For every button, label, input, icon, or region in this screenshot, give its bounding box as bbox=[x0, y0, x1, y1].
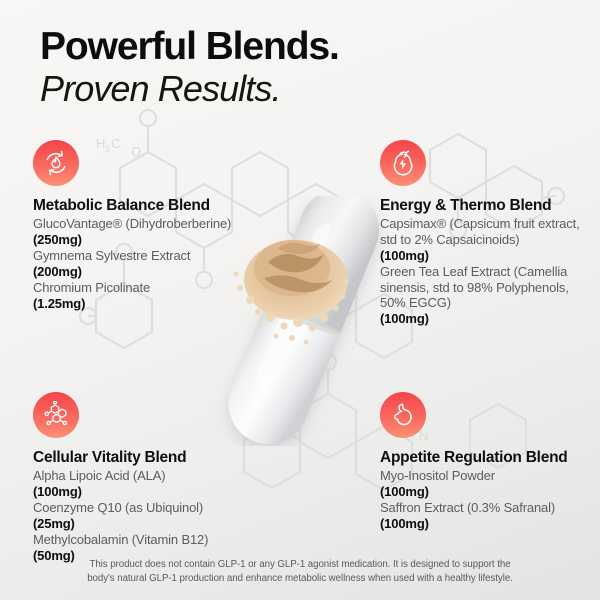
ingredient-dose: (100mg) bbox=[380, 516, 585, 532]
disclaimer-line-2: body's natural GLP-1 production and enha… bbox=[36, 572, 564, 586]
blend-card-cellular: Cellular Vitality Blend Alpha Lipoic Aci… bbox=[33, 392, 248, 564]
ingredient-name: Coenzyme Q10 (as Ubiquinol) bbox=[33, 500, 248, 516]
blend-title: Appetite Regulation Blend bbox=[380, 449, 585, 467]
ingredient-name: Methylcobalamin (Vitamin B12) bbox=[33, 532, 248, 548]
blend-title: Metabolic Balance Blend bbox=[33, 197, 233, 215]
ingredient-name: Capsimax® (Capsicum fruit extract, std t… bbox=[380, 216, 580, 247]
flame-recycle-icon bbox=[33, 140, 79, 186]
blend-title: Energy & Thermo Blend bbox=[380, 197, 580, 215]
page-title: Powerful Blends. Proven Results. bbox=[40, 26, 339, 111]
ingredient-name: GlucoVantage® (Dihydroberberine) bbox=[33, 216, 233, 232]
ingredient-name: Alpha Lipoic Acid (ALA) bbox=[33, 468, 248, 484]
ingredient-dose: (25mg) bbox=[33, 516, 248, 532]
infographic-poster: H 3 C O N O bbox=[0, 0, 600, 600]
ingredient-name: Gymnema Sylvestre Extract bbox=[33, 248, 233, 264]
ingredient-name: Chromium Picolinate bbox=[33, 280, 233, 296]
title-line-secondary: Proven Results. bbox=[40, 68, 339, 110]
ingredient-dose: (200mg) bbox=[33, 264, 233, 280]
title-line-primary: Powerful Blends. bbox=[40, 26, 339, 68]
blend-card-appetite: Appetite Regulation Blend Myo-Inositol P… bbox=[380, 392, 585, 532]
disclaimer: This product does not contain GLP-1 or a… bbox=[0, 558, 600, 586]
ingredient-name: Saffron Extract (0.3% Safranal) bbox=[380, 500, 585, 516]
ingredient-dose: (100mg) bbox=[33, 484, 248, 500]
ingredient-dose: (100mg) bbox=[380, 484, 585, 500]
ingredient-dose: (250mg) bbox=[33, 232, 233, 248]
blend-title: Cellular Vitality Blend bbox=[33, 449, 248, 467]
ingredient-dose: (100mg) bbox=[380, 311, 580, 327]
ingredient-dose: (100mg) bbox=[380, 248, 580, 264]
blend-card-metabolic: Metabolic Balance Blend GlucoVantage® (D… bbox=[33, 140, 233, 312]
ingredient-name: Green Tea Leaf Extract (Camellia sinensi… bbox=[380, 264, 580, 311]
molecule-icon bbox=[33, 392, 79, 438]
ingredient-name: Myo-Inositol Powder bbox=[380, 468, 585, 484]
disclaimer-line-1: This product does not contain GLP-1 or a… bbox=[36, 558, 564, 572]
stomach-icon bbox=[380, 392, 426, 438]
ingredient-dose: (1.25mg) bbox=[33, 296, 233, 312]
lightning-bolt-icon bbox=[380, 140, 426, 186]
blend-card-energy: Energy & Thermo Blend Capsimax® (Capsicu… bbox=[380, 140, 580, 327]
